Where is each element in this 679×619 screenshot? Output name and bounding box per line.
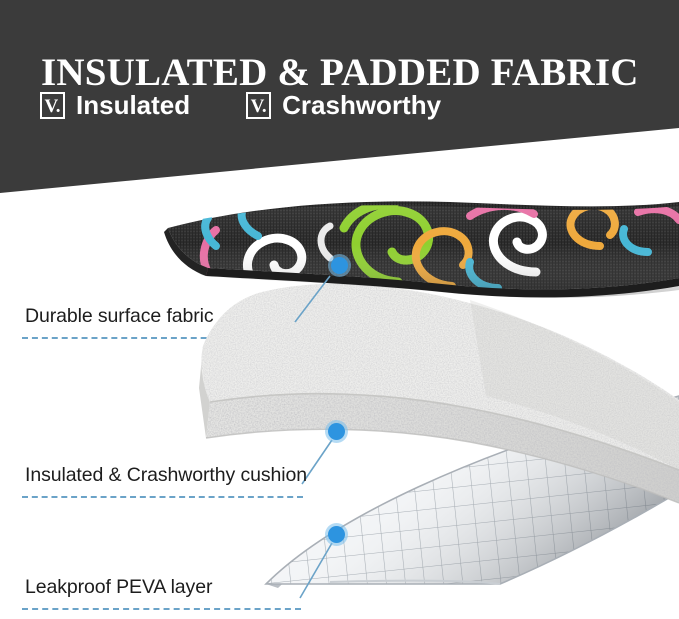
infographic-root: INSULATED & PADDED FABRIC V. Insulated V…: [0, 0, 679, 619]
hotspot-dot-peva: [328, 526, 345, 543]
hotspot-dot-cushion: [328, 423, 345, 440]
feature-label-crashworthy: Crashworthy: [282, 91, 441, 119]
hotspot-dot-surface-fabric: [331, 257, 348, 274]
feature-item-crashworthy: V. Crashworthy: [246, 91, 441, 119]
checkbox-mark: V.: [251, 97, 267, 116]
feature-label-insulated: Insulated: [76, 91, 190, 119]
checkbox-checked-icon: V.: [246, 92, 271, 119]
checkbox-checked-icon: V.: [40, 92, 65, 119]
feature-list: V. Insulated V. Crashworthy: [40, 91, 441, 119]
callout-label-surface-fabric: Durable surface fabric: [25, 305, 214, 328]
callout-label-cushion: Insulated & Crashworthy cushion: [25, 464, 307, 487]
feature-item-insulated: V. Insulated: [40, 91, 190, 119]
callout-label-peva: Leakproof PEVA layer: [25, 576, 212, 599]
checkbox-mark: V.: [44, 97, 60, 116]
page-title: INSULATED & PADDED FABRIC: [41, 51, 651, 95]
